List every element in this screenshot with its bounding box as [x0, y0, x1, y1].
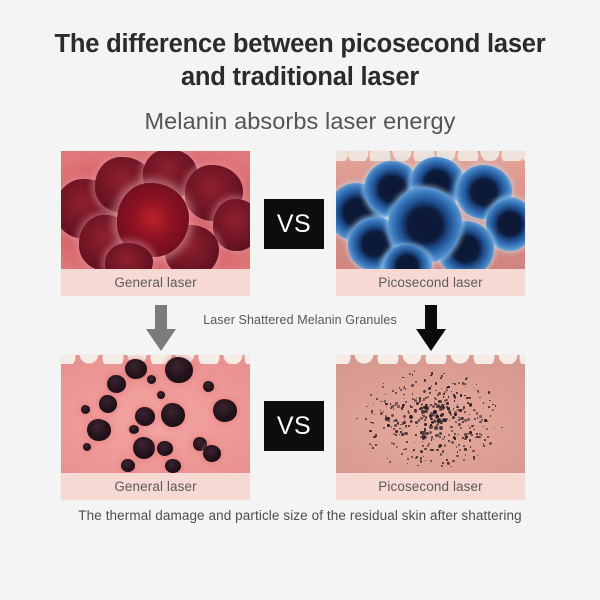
- residual-particle: [452, 416, 455, 419]
- residual-particle: [477, 455, 478, 456]
- residual-particle: [449, 420, 450, 421]
- residual-particle: [473, 429, 474, 430]
- residual-particle: [431, 436, 433, 438]
- residual-particle: [376, 398, 378, 400]
- residual-particle: [374, 414, 375, 415]
- middle-note: Laser Shattered Melanin Granules: [186, 313, 414, 327]
- residual-particle: [395, 434, 398, 437]
- arrow-shaft: [425, 305, 437, 331]
- residual-particle: [404, 432, 407, 435]
- panel-top-left-general-laser: General laser: [61, 151, 250, 296]
- residual-particle: [439, 426, 443, 430]
- residual-particle: [87, 419, 111, 441]
- residual-particle: [424, 410, 427, 413]
- residual-particle: [372, 422, 374, 424]
- residual-particle: [484, 419, 486, 421]
- residual-particle: [81, 405, 90, 414]
- residual-particle: [420, 460, 422, 462]
- residual-particle: [165, 459, 181, 473]
- residual-particle: [165, 357, 193, 383]
- residual-particle: [407, 463, 408, 464]
- residual-particle: [464, 411, 466, 413]
- residual-particle: [424, 419, 426, 421]
- vs-badge-bottom: VS: [264, 401, 324, 451]
- residual-particle: [135, 407, 155, 426]
- residual-particle: [490, 415, 491, 416]
- residual-particle: [466, 397, 468, 399]
- page-subtitle: Melanin absorbs laser energy: [30, 108, 570, 135]
- residual-particle: [450, 426, 452, 428]
- residual-particle: [371, 445, 372, 446]
- residual-particle: [402, 429, 403, 430]
- residual-particle: [369, 430, 372, 433]
- residual-particle: [417, 465, 418, 466]
- residual-particle: [460, 427, 462, 429]
- residual-particle: [448, 396, 449, 397]
- panel-caption: Picosecond laser: [336, 473, 525, 500]
- residual-particle: [439, 436, 441, 438]
- residual-particle: [427, 445, 429, 447]
- photo-melanin-granules-blue: [336, 151, 525, 269]
- residual-particle: [444, 391, 446, 393]
- residual-particle: [389, 461, 391, 463]
- residual-particle: [425, 460, 426, 461]
- residual-particle: [479, 415, 482, 418]
- residual-particle: [469, 403, 472, 406]
- residual-particle: [443, 396, 445, 398]
- residual-particle: [456, 392, 458, 394]
- residual-particle: [412, 393, 414, 395]
- residual-particle: [424, 423, 426, 425]
- residual-particle: [411, 456, 413, 458]
- residual-particle: [479, 397, 481, 399]
- residual-particle: [465, 454, 467, 456]
- residual-particle: [437, 394, 438, 395]
- residual-particle: [469, 439, 471, 441]
- residual-particle: [472, 450, 474, 452]
- panel-top-right-picosecond-laser: Picosecond laser: [336, 151, 525, 296]
- residual-particle: [401, 453, 403, 455]
- residual-particle: [453, 437, 456, 440]
- residual-particle: [420, 450, 423, 453]
- residual-particle: [415, 435, 416, 436]
- residual-particle: [107, 375, 126, 393]
- residual-particle: [356, 418, 357, 419]
- residual-particle: [455, 421, 458, 424]
- residual-particle: [479, 421, 482, 424]
- residual-particle: [402, 377, 403, 378]
- arrow-head: [146, 329, 176, 351]
- residual-particle: [454, 413, 457, 416]
- arrow-head: [416, 329, 446, 351]
- residual-particle: [403, 394, 404, 395]
- residual-particle: [492, 404, 493, 405]
- residual-particle: [462, 409, 464, 411]
- residual-particle: [440, 377, 442, 379]
- residual-particle: [458, 444, 460, 446]
- residual-particle: [477, 417, 478, 418]
- residual-particle: [385, 403, 387, 405]
- residual-particle: [448, 434, 450, 436]
- residual-particle: [372, 447, 374, 449]
- residual-particle: [457, 434, 458, 435]
- residual-particle: [488, 406, 489, 407]
- residual-particle: [413, 449, 415, 451]
- residual-particle: [414, 442, 415, 443]
- residual-particle: [425, 432, 428, 435]
- residual-particle: [414, 409, 417, 412]
- residual-particle: [394, 405, 396, 407]
- residual-particle: [394, 424, 397, 427]
- residual-particle: [430, 460, 432, 462]
- residual-particle: [473, 458, 475, 460]
- residual-particle: [412, 374, 414, 376]
- residual-particle: [408, 412, 410, 414]
- residual-particle: [411, 384, 414, 387]
- residual-particle: [161, 403, 185, 427]
- residual-particle: [405, 388, 407, 390]
- residual-particle: [429, 431, 432, 434]
- residual-particle: [365, 418, 367, 420]
- residual-particle: [469, 427, 471, 429]
- residual-particle: [468, 425, 469, 426]
- residual-particle: [471, 425, 474, 428]
- residual-particle: [456, 406, 458, 408]
- residual-particle: [469, 414, 470, 415]
- residual-particle: [410, 420, 412, 422]
- residual-particle: [424, 428, 425, 429]
- residual-particle: [397, 422, 399, 424]
- residual-particle: [412, 421, 413, 422]
- residual-particle: [486, 428, 488, 430]
- residual-particle: [459, 449, 461, 451]
- residual-particle: [405, 401, 408, 404]
- residual-particle: [443, 373, 444, 374]
- residual-particle: [419, 408, 421, 410]
- residual-particle: [460, 394, 463, 397]
- residual-particle: [414, 399, 417, 402]
- residual-particle: [432, 449, 434, 451]
- residual-particle: [373, 403, 375, 405]
- residual-particle: [415, 457, 417, 459]
- panel-caption: General laser: [61, 269, 250, 296]
- residual-particle: [423, 456, 424, 457]
- residual-particle: [99, 395, 117, 413]
- residual-particle: [489, 442, 491, 444]
- residual-particle: [424, 448, 427, 451]
- residual-particle: [422, 441, 423, 442]
- residual-particle: [373, 436, 375, 438]
- residual-dust-field: [350, 365, 510, 469]
- residual-particle: [484, 439, 487, 442]
- residual-particle: [392, 390, 394, 392]
- residual-particle: [473, 409, 475, 411]
- residual-particle: [395, 392, 398, 395]
- residual-particle: [441, 388, 443, 390]
- residual-particle: [157, 391, 165, 399]
- residual-particle: [400, 389, 402, 391]
- residual-particle: [439, 432, 442, 435]
- residual-particle: [383, 427, 385, 429]
- residual-particle: [463, 459, 465, 461]
- residual-particle: [492, 409, 494, 411]
- residual-particle: [385, 394, 386, 395]
- residual-particle: [424, 379, 427, 382]
- panel-caption: Picosecond laser: [336, 269, 525, 296]
- skin-surface-texture: [61, 355, 250, 364]
- residual-particle: [465, 436, 468, 439]
- residual-particle: [481, 434, 482, 435]
- residual-particle: [439, 420, 443, 424]
- residual-particle: [434, 401, 435, 402]
- residual-particle: [366, 406, 368, 408]
- residual-particle: [443, 419, 447, 423]
- residual-particle: [469, 397, 471, 399]
- residual-particle: [467, 418, 470, 421]
- residual-particle: [433, 439, 434, 440]
- residual-particle: [487, 436, 489, 438]
- residual-particle: [446, 402, 449, 405]
- residual-particle: [429, 392, 431, 394]
- residual-particle: [423, 398, 426, 401]
- residual-particle: [494, 428, 496, 430]
- residual-particle: [456, 446, 458, 448]
- residual-particle: [443, 393, 445, 395]
- residual-particle: [395, 430, 398, 433]
- residual-particle: [476, 436, 479, 439]
- residual-particle: [439, 444, 442, 447]
- melanin-granule: [213, 199, 250, 251]
- residual-particle: [447, 408, 449, 410]
- residual-particle: [383, 383, 384, 384]
- residual-particle: [125, 359, 147, 379]
- residual-particle: [396, 420, 398, 422]
- residual-particle: [483, 445, 485, 447]
- residual-particle: [409, 373, 411, 375]
- residual-particle: [419, 400, 421, 402]
- residual-particle: [416, 426, 417, 427]
- residual-particle: [399, 434, 401, 436]
- residual-particle: [454, 383, 456, 385]
- residual-particle: [442, 438, 444, 440]
- residual-particle: [451, 441, 454, 444]
- residual-particle: [438, 401, 440, 403]
- residual-particle: [416, 397, 417, 398]
- residual-particle: [426, 406, 429, 409]
- residual-particle: [408, 425, 411, 428]
- residual-particle: [203, 445, 221, 462]
- residual-particle: [405, 426, 407, 428]
- page-title: The difference between picosecond laser …: [30, 28, 570, 93]
- residual-particle: [403, 415, 406, 418]
- residual-particle: [430, 449, 432, 451]
- residual-particle: [415, 381, 418, 384]
- residual-particle: [495, 405, 496, 406]
- residual-particle: [393, 433, 395, 435]
- residual-particle: [121, 459, 135, 472]
- residual-particle: [470, 446, 472, 448]
- residual-particle: [387, 424, 390, 427]
- residual-particle: [396, 446, 398, 448]
- arrow-shaft: [155, 305, 167, 331]
- skin-surface-texture: [336, 355, 525, 364]
- residual-particle: [451, 430, 453, 432]
- residual-particle: [453, 408, 455, 410]
- residual-particle: [383, 411, 385, 413]
- residual-particle: [441, 408, 443, 410]
- residual-particle: [435, 399, 437, 401]
- residual-particle: [386, 406, 387, 407]
- residual-particle: [476, 433, 477, 434]
- residual-particle: [443, 413, 444, 414]
- residual-particle: [435, 390, 437, 392]
- residual-particle: [393, 420, 395, 422]
- residual-particle: [447, 462, 450, 465]
- residual-particle: [470, 434, 471, 435]
- residual-particle: [416, 402, 419, 405]
- residual-particle: [435, 382, 437, 384]
- residual-particle: [406, 441, 408, 443]
- residual-particle: [454, 400, 456, 402]
- residual-particle: [203, 381, 214, 392]
- residual-particle: [462, 437, 464, 439]
- residual-particle: [391, 414, 394, 417]
- residual-particle: [371, 410, 373, 412]
- residual-particle: [213, 399, 237, 422]
- residual-particle: [425, 416, 428, 419]
- residual-particle: [474, 418, 476, 420]
- residual-particle: [421, 431, 425, 435]
- residual-particle: [405, 425, 406, 426]
- residual-particle: [476, 384, 477, 385]
- residual-particle: [464, 448, 466, 450]
- panel-bottom-left-general-laser: General laser: [61, 355, 250, 500]
- residual-particle: [483, 426, 484, 427]
- residual-particle: [157, 441, 173, 456]
- residual-particle: [442, 450, 444, 452]
- residual-particle: [465, 378, 467, 380]
- residual-particle: [129, 425, 139, 434]
- residual-particle: [451, 466, 452, 467]
- residual-particle: [402, 422, 405, 425]
- residual-particle: [380, 401, 382, 403]
- residual-particle: [429, 425, 433, 429]
- residual-particle: [457, 451, 458, 452]
- residual-particle: [404, 419, 405, 420]
- residual-particle: [370, 394, 372, 396]
- residual-particle: [467, 402, 469, 404]
- residual-particle: [370, 422, 372, 424]
- residual-particle: [423, 390, 426, 393]
- residual-particle: [462, 382, 464, 384]
- residual-particle: [458, 382, 460, 384]
- infographic-root: The difference between picosecond laser …: [0, 0, 600, 600]
- residual-particle: [429, 406, 430, 407]
- photo-residual-fine-dust: [336, 355, 525, 473]
- residual-particle: [427, 396, 429, 398]
- residual-particle: [393, 428, 395, 430]
- residual-particle: [414, 370, 415, 371]
- residual-particle: [430, 418, 433, 421]
- residual-particle: [463, 445, 465, 447]
- residual-particle: [471, 434, 473, 436]
- panel-bottom-right-picosecond-laser: Picosecond laser: [336, 355, 525, 500]
- residual-particle: [404, 398, 405, 399]
- residual-particle: [387, 458, 388, 459]
- residual-particle: [380, 412, 382, 414]
- residual-particle: [489, 400, 491, 402]
- footer-note: The thermal damage and particle size of …: [30, 508, 570, 523]
- residual-particle: [442, 462, 444, 464]
- residual-particle: [476, 412, 479, 415]
- residual-particle: [416, 456, 418, 458]
- residual-particle: [422, 445, 424, 447]
- residual-particle: [458, 419, 460, 421]
- residual-particle: [147, 375, 156, 384]
- residual-particle: [434, 414, 437, 417]
- vs-badge-top: VS: [264, 199, 324, 249]
- residual-particle: [459, 409, 462, 412]
- residual-particle: [434, 426, 438, 430]
- residual-particle: [441, 465, 443, 467]
- arrow-down-icon-left: [146, 305, 176, 351]
- photo-melanin-granules-red: [61, 151, 250, 269]
- residual-particle: [451, 391, 452, 392]
- residual-particle: [501, 427, 503, 429]
- residual-particle: [399, 428, 401, 430]
- residual-particle: [428, 443, 430, 445]
- residual-particle: [452, 383, 453, 384]
- arrow-down-icon-right: [416, 305, 446, 351]
- residual-particle: [456, 455, 459, 458]
- residual-particle: [431, 385, 433, 387]
- residual-particle: [440, 453, 442, 455]
- residual-particle: [458, 423, 461, 426]
- residual-particle: [375, 444, 377, 446]
- residual-particle: [382, 401, 383, 402]
- photo-residual-large-particles: [61, 355, 250, 473]
- residual-particle: [483, 402, 484, 403]
- residual-particle: [436, 449, 439, 452]
- residual-particle: [433, 420, 436, 423]
- residual-particle: [83, 443, 91, 451]
- residual-particle: [405, 448, 407, 450]
- residual-particle: [432, 405, 435, 408]
- residual-particle: [407, 411, 408, 412]
- residual-particle: [454, 433, 456, 435]
- residual-particle: [133, 437, 155, 459]
- residual-particle: [397, 405, 400, 408]
- residual-particle: [407, 458, 409, 460]
- residual-particle: [452, 460, 455, 463]
- residual-particle: [409, 415, 413, 419]
- residual-particle: [444, 404, 445, 405]
- residual-particle: [464, 395, 465, 396]
- residual-particle: [465, 386, 467, 388]
- residual-particle: [488, 391, 490, 393]
- residual-particle: [382, 386, 384, 388]
- residual-particle: [424, 436, 427, 439]
- residual-particle: [444, 444, 446, 446]
- residual-particle: [447, 386, 449, 388]
- residual-particle: [393, 408, 395, 410]
- residual-particle: [403, 449, 405, 451]
- residual-particle: [454, 396, 456, 398]
- residual-particle: [388, 420, 390, 422]
- residual-particle: [371, 411, 374, 414]
- residual-particle: [430, 375, 432, 377]
- residual-particle: [393, 443, 395, 445]
